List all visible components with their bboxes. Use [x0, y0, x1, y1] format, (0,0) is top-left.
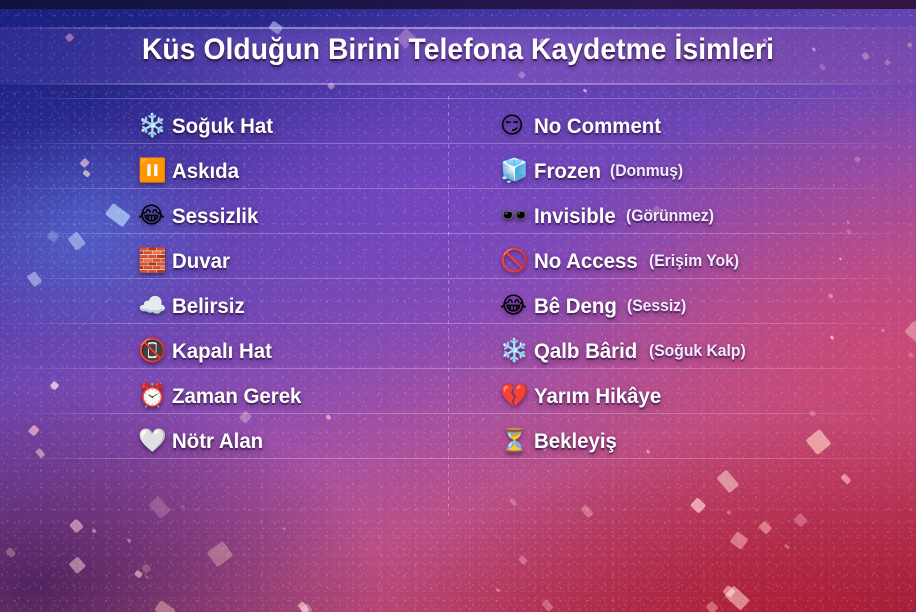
white-heart-icon: 🤍: [138, 430, 172, 453]
list-item: 💔Yarım Hikâye: [500, 374, 916, 419]
list-item: 😏No Comment: [500, 104, 916, 149]
right-column: 😏No Comment🧊Frozen(Donmuş)🕶️Invisible(Gö…: [448, 104, 916, 464]
list-item-note: (Görünmez): [626, 207, 714, 226]
list-item-label: Askıda: [172, 159, 239, 184]
list-item: 🧊Frozen(Donmuş): [500, 149, 916, 194]
list-item: ☁️Belirsiz: [138, 284, 448, 329]
list-item: 😂Bê Deng(Sessiz): [500, 284, 916, 329]
row-separator: [0, 98, 916, 99]
alarm-clock-icon: ⏰: [138, 385, 172, 408]
list-item-label: Bekleyiş: [534, 429, 617, 454]
list-item-label: No Access: [534, 249, 638, 274]
list-item-label: Qalb Bârid: [534, 339, 637, 364]
left-column: ❄️Soğuk Hat⏸️Askıda😂Sessizlik🧱Duvar☁️Bel…: [0, 104, 448, 464]
list-item-label: No Comment: [534, 114, 661, 139]
list-item-label: Soğuk Hat: [172, 114, 273, 139]
list-item: ⏳Bekleyiş: [500, 419, 916, 464]
list-item: ⏸️Askıda: [138, 149, 448, 194]
list-item-label: Duvar: [172, 249, 230, 274]
title-band-top-rule: [0, 27, 916, 29]
list-item-note: (Donmuş): [610, 162, 683, 181]
hourglass-icon: ⏳: [500, 430, 534, 453]
list-item: 😂Sessizlik: [138, 194, 448, 239]
prohibited-icon: 🚫: [500, 250, 534, 273]
list-columns: ❄️Soğuk Hat⏸️Askıda😂Sessizlik🧱Duvar☁️Bel…: [0, 104, 916, 464]
brick-wall-icon: 🧱: [138, 250, 172, 273]
grinning-squinting-face-icon: 😂: [500, 295, 534, 318]
grinning-squinting-face-icon: 😂: [138, 205, 172, 228]
snowflake-icon: ❄️: [138, 115, 172, 138]
page-title: Küs Olduğun Birini Telefona Kaydetme İsi…: [27, 33, 888, 67]
ice-cube-icon: 🧊: [500, 160, 534, 183]
top-dark-band: [0, 0, 916, 9]
list-item-label: Frozen: [534, 159, 601, 184]
list-item: ❄️Qalb Bârid(Soğuk Kalp): [500, 329, 916, 374]
list-item-note: (Erişim Yok): [649, 252, 739, 271]
list-item-label: Invisible: [534, 204, 616, 229]
list-item: ❄️Soğuk Hat: [138, 104, 448, 149]
list-item: ⏰Zaman Gerek: [138, 374, 448, 419]
list-item-note: (Sessiz): [627, 297, 686, 316]
list-item: 🧱Duvar: [138, 239, 448, 284]
list-item-label: Belirsiz: [172, 294, 245, 319]
list-item-label: Sessizlik: [172, 204, 258, 229]
broken-heart-icon: 💔: [500, 385, 534, 408]
title-band-bottom-rule: [0, 83, 916, 85]
smirking-face-icon: 😏: [500, 115, 534, 138]
poster-canvas: Küs Olduğun Birini Telefona Kaydetme İsi…: [0, 0, 916, 612]
pause-button-icon: ⏸️: [138, 160, 172, 183]
list-item: 🤍Nötr Alan: [138, 419, 448, 464]
list-item-label: Yarım Hikâye: [534, 384, 661, 409]
list-item-label: Bê Deng: [534, 294, 617, 319]
list-item: 🕶️Invisible(Görünmez): [500, 194, 916, 239]
list-item-note: (Soğuk Kalp): [649, 342, 746, 361]
list-item: 📵Kapalı Hat: [138, 329, 448, 374]
no-mobile-phones-icon: 📵: [138, 340, 172, 363]
sunglasses-icon: 🕶️: [500, 205, 534, 228]
snowflake-icon: ❄️: [500, 340, 534, 363]
list-item: 🚫No Access(Erişim Yok): [500, 239, 916, 284]
list-item-label: Zaman Gerek: [172, 384, 301, 409]
list-item-label: Kapalı Hat: [172, 339, 272, 364]
cloud-icon: ☁️: [138, 295, 172, 318]
list-item-label: Nötr Alan: [172, 429, 263, 454]
